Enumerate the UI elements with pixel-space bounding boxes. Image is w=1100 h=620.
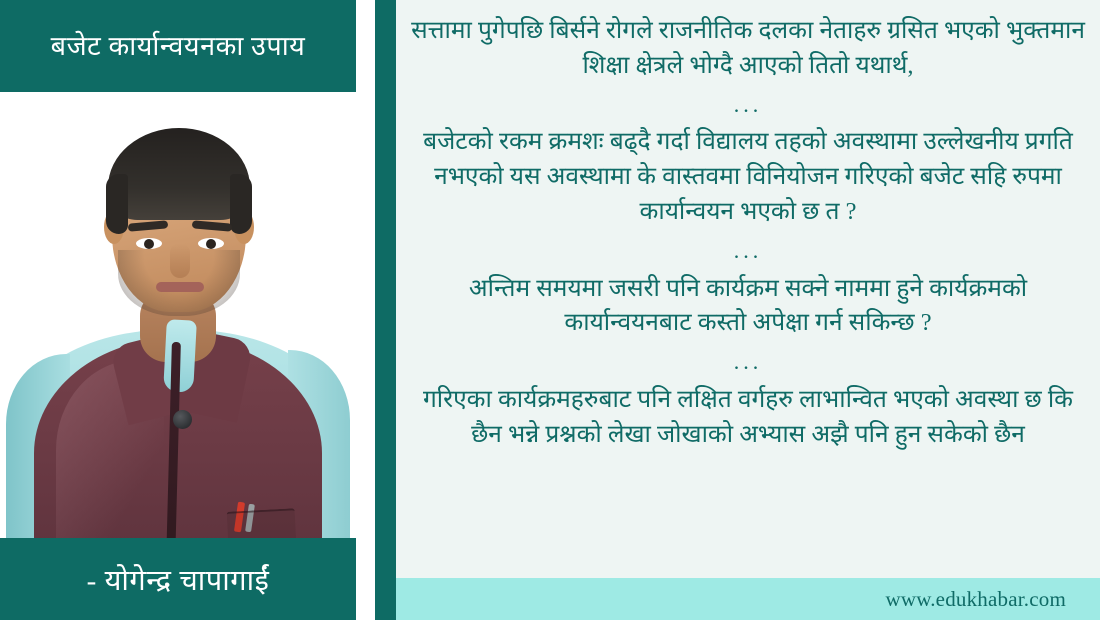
paragraph-separator: ... (410, 341, 1086, 383)
vertical-divider (375, 0, 396, 620)
portrait-photo (0, 92, 356, 562)
paragraph-separator: ... (410, 230, 1086, 272)
eye-right (198, 238, 224, 249)
speaker-name: - योगेन्द्र चापागाईं (87, 560, 270, 599)
quote-text-body: सत्तामा पुगेपछि बिर्सने रोगले राजनीतिक द… (396, 0, 1100, 578)
hair-side-left (106, 174, 128, 234)
name-bar: - योगेन्द्र चापागाईं (0, 538, 356, 620)
quote-paragraph: बजेटको रकम क्रमशः बढ्दै गर्दा विद्यालय त… (410, 125, 1086, 229)
page-title: बजेट कार्यान्वयनका उपाय (51, 30, 306, 62)
eye-left (136, 238, 162, 249)
title-bar: बजेट कार्यान्वयनका उपाय (0, 0, 356, 92)
site-url-label[interactable]: www.edukhabar.com (886, 587, 1100, 612)
waistcoat-button (173, 410, 192, 429)
right-panel: सत्तामा पुगेपछि बिर्सने रोगले राजनीतिक द… (396, 0, 1100, 620)
mouth (156, 282, 204, 292)
hair-side-right (230, 174, 252, 234)
nose (170, 244, 190, 278)
hair (108, 128, 250, 220)
quote-card: बजेट कार्यान्वयनका उपाय (0, 0, 1100, 620)
portrait-figure (0, 92, 356, 562)
pupil-right (206, 239, 216, 249)
paragraph-separator: ... (410, 84, 1086, 126)
pupil-left (144, 239, 154, 249)
quote-paragraph: सत्तामा पुगेपछि बिर्सने रोगले राजनीतिक द… (410, 14, 1086, 84)
left-panel: बजेट कार्यान्वयनका उपाय (0, 0, 356, 620)
quote-paragraph: अन्तिम समयमा जसरी पनि कार्यक्रम सक्ने ना… (410, 272, 1086, 342)
quote-paragraph: गरिएका कार्यक्रमहरुबाट पनि लक्षित वर्गहर… (410, 383, 1086, 453)
site-footer-bar: www.edukhabar.com (396, 578, 1100, 620)
